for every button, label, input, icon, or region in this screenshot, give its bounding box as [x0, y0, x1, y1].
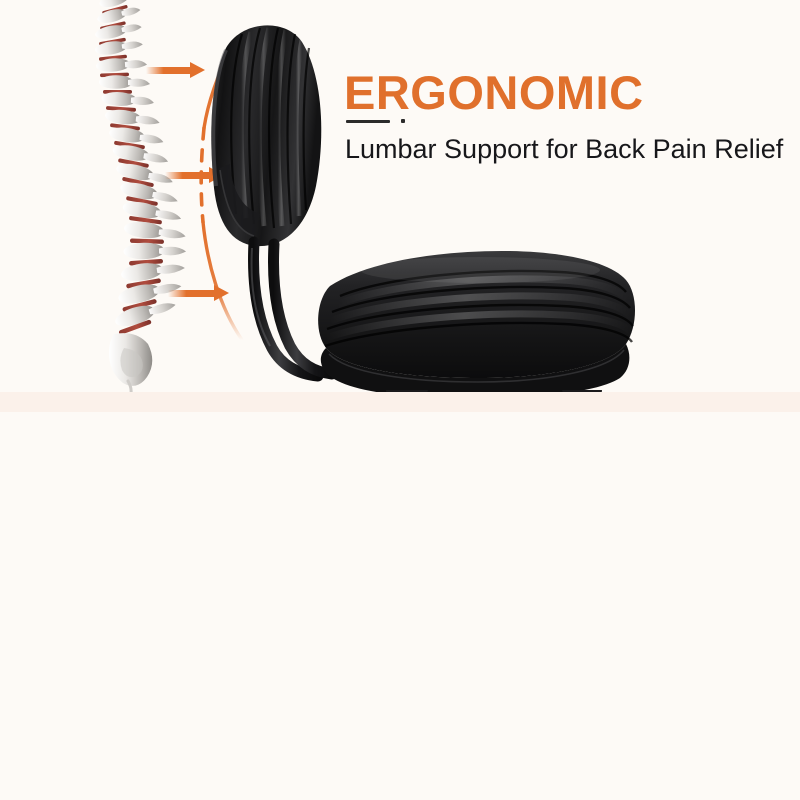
ergonomic-headline: ERGONOMIC [344, 68, 644, 118]
chair-seat [318, 251, 635, 392]
ergonomic-subheadline: Lumbar Support for Back Pain Relief [345, 134, 783, 165]
separator-bar [346, 120, 390, 123]
panel-ergonomic: ERGONOMIC Lumbar Support for Back Pain R… [0, 0, 800, 392]
arrow-shaft [146, 67, 192, 74]
chair-backrest [211, 25, 321, 246]
separator-dot [401, 119, 405, 123]
product-feature-image: ERGONOMIC Lumbar Support for Back Pain R… [0, 0, 800, 800]
panel-divider [0, 392, 800, 412]
panel-vertical-stripe: VERTICAL STRIPE DESIGN Simple and Beauti… [0, 412, 800, 800]
ergonomic-separator [346, 119, 405, 123]
